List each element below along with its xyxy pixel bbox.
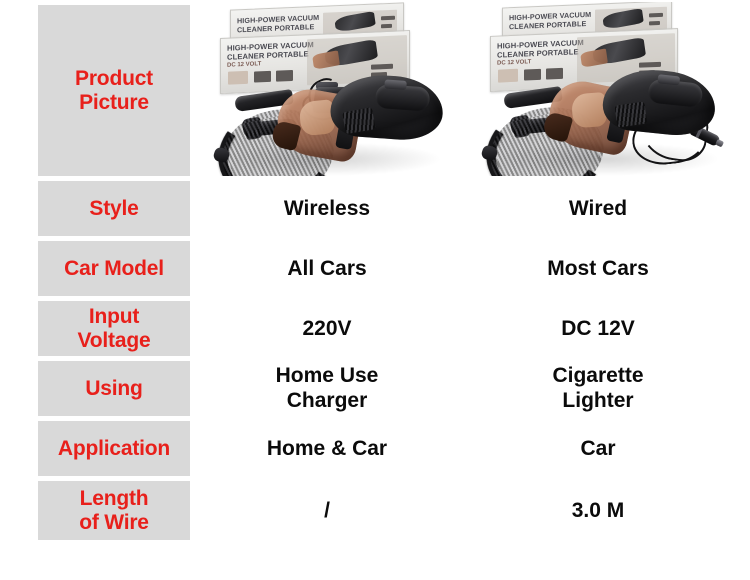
row-label-line: Using <box>85 377 142 401</box>
row-label-car-model: Car Model <box>38 241 190 296</box>
value-style-wireless: Wireless <box>196 181 458 236</box>
box-art-thumb <box>254 71 271 83</box>
handheld-vacuum <box>275 68 450 172</box>
product-image-wired: HIGH-POWER VACUUM CLEANER PORTABLE HIGH-… <box>480 2 732 176</box>
product-box-front-line2: CLEANER PORTABLE <box>227 50 309 61</box>
box-art-thumb <box>649 13 663 18</box>
vacuum-power-switch <box>384 79 407 90</box>
value-using-wired: Cigarette Lighter <box>458 358 738 418</box>
row-label-line: Style <box>89 197 138 221</box>
value-line: Wireless <box>284 196 370 221</box>
value-line: Car <box>580 436 615 461</box>
vacuum-filter <box>571 92 607 128</box>
value-style-wired: Wired <box>458 181 738 236</box>
value-line: 3.0 M <box>572 498 625 523</box>
box-art-thumb <box>371 64 393 70</box>
row-label-line: Car Model <box>64 257 164 281</box>
row-label-line: Voltage <box>78 329 151 353</box>
box-art-thumb <box>524 69 541 81</box>
value-line: Home & Car <box>267 436 387 461</box>
row-label-line: Input <box>89 305 139 329</box>
box-art-thumb <box>381 24 392 28</box>
box-art-thumb <box>639 62 661 68</box>
product-box-front-line3: DC 12 VOLT <box>227 61 261 68</box>
value-line: DC 12V <box>561 316 635 341</box>
value-length-of-wire-wired: 3.0 M <box>458 481 738 540</box>
product-comparison-page: Product Picture HIGH-POWER VACUUM CLEANE… <box>0 0 750 580</box>
value-car-model-wireless: All Cars <box>196 241 458 296</box>
value-input-voltage-wireless: 220V <box>196 301 458 356</box>
row-label-product-picture: Product Picture <box>38 5 190 176</box>
comparison-table: Product Picture HIGH-POWER VACUUM CLEANE… <box>0 0 750 580</box>
value-line: All Cars <box>287 256 366 281</box>
box-art-thumb <box>649 21 660 25</box>
product-box-front-line2: CLEANER PORTABLE <box>497 48 579 59</box>
value-line: 220V <box>302 316 351 341</box>
value-line: / <box>324 498 330 523</box>
row-label-line: Picture <box>79 91 149 115</box>
row-label-line: Length <box>80 487 149 511</box>
value-car-model-wired: Most Cars <box>458 241 738 296</box>
value-line: Cigarette <box>552 363 643 388</box>
product-box-front-line3: DC 12 VOLT <box>497 59 531 66</box>
value-application-wireless: Home & Car <box>196 421 458 476</box>
value-line: Wired <box>569 196 627 221</box>
value-line: Lighter <box>562 388 633 413</box>
row-label-line: Application <box>58 437 170 461</box>
row-label-application: Application <box>38 421 190 476</box>
product-image-wireless: HIGH-POWER VACUUM CLEANER PORTABLE HIGH-… <box>212 2 450 176</box>
row-label-line: of Wire <box>79 511 149 535</box>
box-art-thumb <box>498 69 518 83</box>
value-line: Home Use <box>276 363 379 388</box>
value-application-wired: Car <box>458 421 738 476</box>
row-label-line: Product <box>75 67 153 91</box>
box-art-thumb <box>381 16 395 21</box>
product-box-title-line2: CLEANER PORTABLE <box>237 23 314 34</box>
handheld-vacuum <box>546 59 725 168</box>
row-label-style: Style <box>38 181 190 236</box>
value-using-wireless: Home Use Charger <box>196 358 458 418</box>
row-label-length-of-wire: Length of Wire <box>38 481 190 540</box>
box-art-thumb <box>228 71 248 85</box>
row-label-using: Using <box>38 361 190 416</box>
vacuum-vent <box>615 102 648 128</box>
value-line: Charger <box>287 388 368 413</box>
vacuum-filter <box>298 99 335 136</box>
value-input-voltage-wired: DC 12V <box>458 301 738 356</box>
value-length-of-wire-wireless: / <box>196 481 458 540</box>
row-label-input-voltage: Input Voltage <box>38 301 190 356</box>
value-line: Most Cars <box>547 256 649 281</box>
product-box-title-line2: CLEANER PORTABLE <box>509 20 586 31</box>
